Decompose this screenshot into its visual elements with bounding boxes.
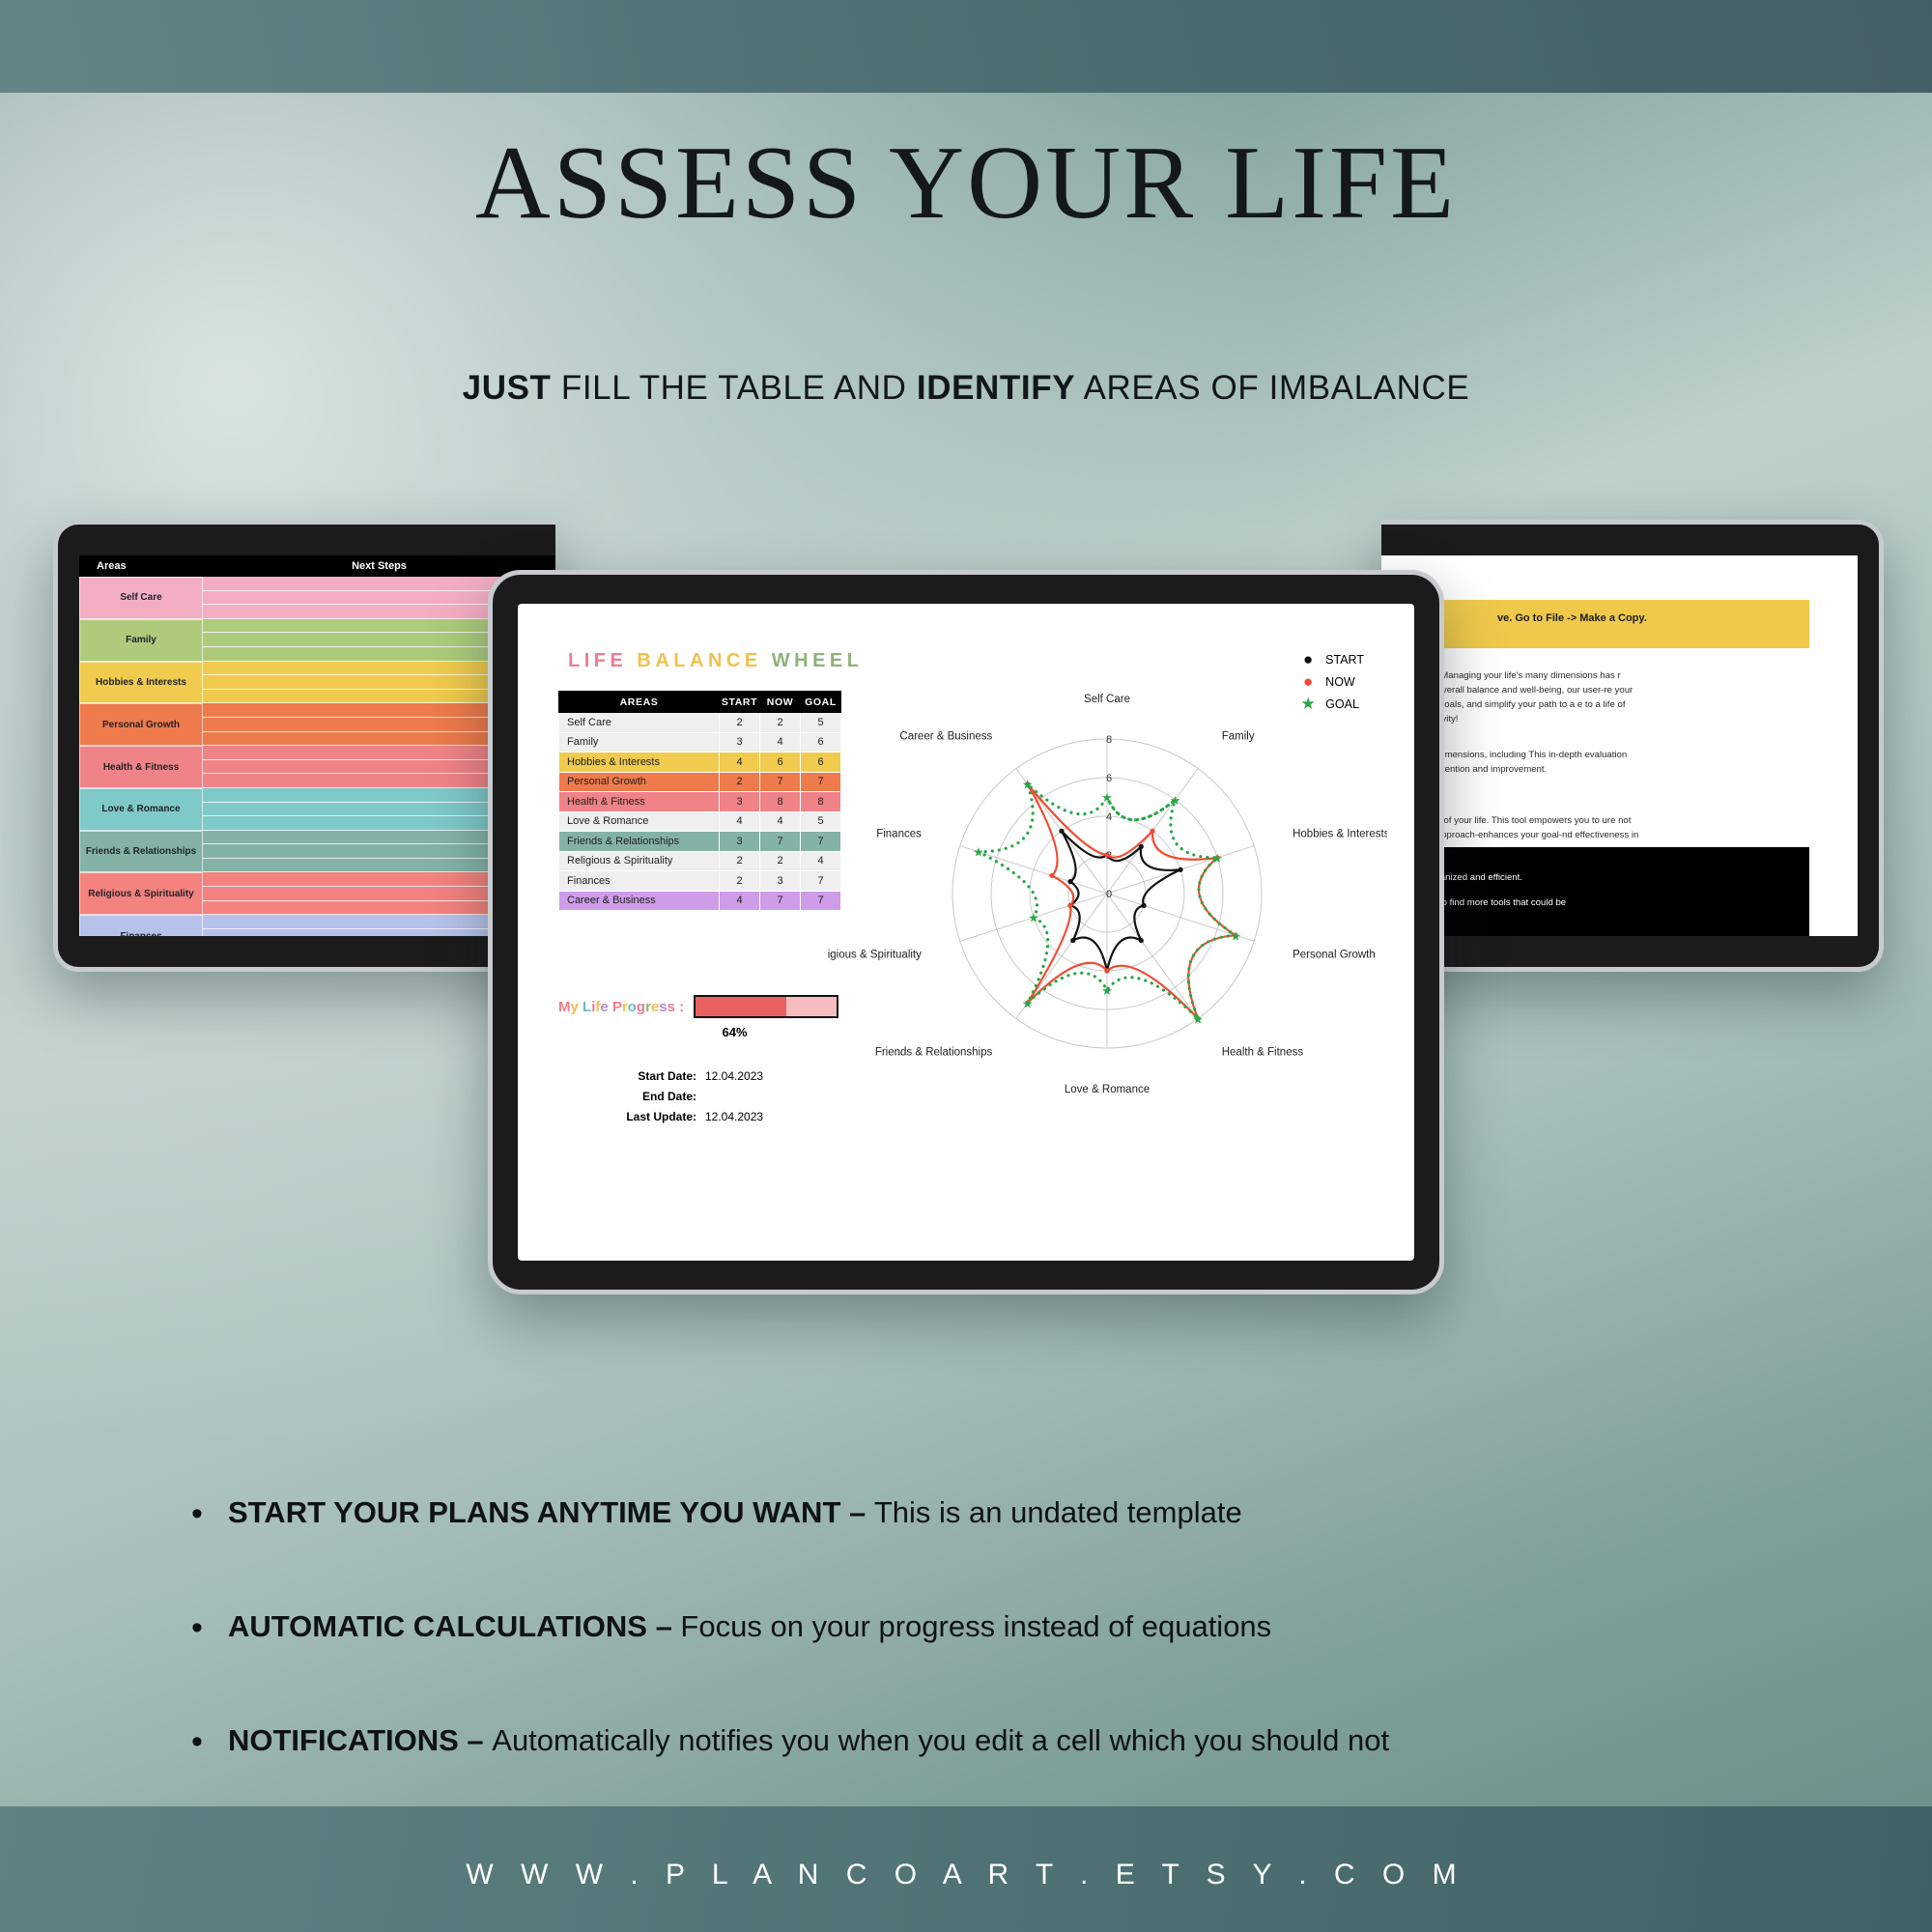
table-body: Self Care225Family346Hobbies & Interests…: [559, 713, 841, 911]
progress-bar: [694, 995, 838, 1018]
page-title: ASSESS YOUR LIFE: [0, 124, 1932, 243]
svg-text:★: ★: [1022, 778, 1034, 792]
subtitle-just: JUST: [463, 369, 552, 407]
left-col-areas: Areas: [79, 560, 203, 572]
left-table-group: Finances: [79, 915, 555, 936]
svg-text:Health & Fitness: Health & Fitness: [1222, 1046, 1304, 1058]
progress-label-char: g: [637, 999, 645, 1015]
date-value[interactable]: 12.04.2023: [705, 1110, 763, 1123]
table-cell-area[interactable]: Health & Fitness: [559, 792, 720, 812]
table-cell-area[interactable]: Friends & Relationships: [559, 832, 720, 852]
progress-label-char: e: [600, 999, 608, 1015]
date-row: End Date:: [558, 1086, 841, 1106]
svg-text:Self Care: Self Care: [1084, 694, 1130, 705]
left-table-body: Self CareFamilyHobbies & InterestsPerson…: [79, 577, 555, 936]
svg-text:Personal Growth: Personal Growth: [1293, 949, 1376, 960]
svg-text:Love & Romance: Love & Romance: [1065, 1084, 1150, 1095]
right-tablet-screen: ve. Go to File -> Make a Copy. ts of you…: [1381, 555, 1858, 936]
progress-label-char: y: [571, 999, 579, 1015]
progress-bar-fill: [696, 997, 785, 1016]
footer-url: W W W . P L A N C O A R T . E T S Y . C …: [0, 1859, 1932, 1891]
table-cell-start[interactable]: 2: [720, 713, 760, 733]
table-cell-start[interactable]: 4: [720, 753, 760, 773]
progress-percent: 64%: [558, 1025, 841, 1039]
left-area-label: Personal Growth: [79, 703, 203, 746]
table-cell-start[interactable]: 3: [720, 792, 760, 812]
left-table-group: Health & Fitness: [79, 746, 555, 788]
left-table-group: Family: [79, 619, 555, 662]
table-cell-start[interactable]: 3: [720, 832, 760, 852]
date-label: Last Update:: [558, 1110, 705, 1123]
progress-label-char: e: [651, 999, 659, 1015]
right-doc-banner: ve. Go to File -> Make a Copy.: [1381, 600, 1809, 648]
svg-text:Career & Business: Career & Business: [899, 731, 992, 743]
table-cell-start[interactable]: 4: [720, 891, 760, 911]
table-row[interactable]: Health & Fitness388: [559, 792, 841, 812]
bullet-title: START YOUR PLANS ANYTIME YOU WANT –: [228, 1495, 874, 1529]
table-col-header: START: [720, 692, 760, 713]
svg-text:4: 4: [1106, 811, 1112, 823]
left-table-group: Personal Growth: [79, 703, 555, 746]
table-row[interactable]: Hobbies & Interests466: [559, 753, 841, 773]
svg-text:Hobbies & Interests: Hobbies & Interests: [1293, 829, 1387, 840]
feature-bullet: NOTIFICATIONS – Automatically notifies y…: [228, 1723, 1677, 1758]
date-label: Start Date:: [558, 1069, 705, 1083]
left-table-group: Hobbies & Interests: [79, 662, 555, 704]
left-area-label: Health & Fitness: [79, 746, 203, 788]
table-cell-now[interactable]: 2: [760, 851, 801, 871]
left-table-group: Love & Romance: [79, 788, 555, 831]
table-cell-now[interactable]: 4: [760, 811, 801, 832]
svg-text:★: ★: [1192, 1011, 1204, 1026]
progress-row: My Life Progress :: [558, 995, 841, 1018]
feature-bullet-list: START YOUR PLANS ANYTIME YOU WANT – This…: [228, 1495, 1677, 1837]
right-doc-banner-text: ve. Go to File -> Make a Copy.: [1497, 612, 1647, 624]
table-cell-area[interactable]: Career & Business: [559, 891, 720, 911]
svg-text:★: ★: [1028, 911, 1039, 925]
left-table-group: Religious & Spirituality: [79, 872, 555, 915]
svg-text:★: ★: [1211, 851, 1223, 866]
left-area-label: Hobbies & Interests: [79, 662, 203, 704]
svg-text:Family: Family: [1222, 731, 1255, 743]
life-areas-table[interactable]: AREASSTARTNOWGOAL Self Care225Family346H…: [558, 691, 841, 911]
left-table-group: Self Care: [79, 577, 555, 619]
table-row[interactable]: Religious & Spirituality224: [559, 851, 841, 871]
table-cell-start[interactable]: 4: [720, 811, 760, 832]
svg-text:★: ★: [1022, 996, 1034, 1010]
svg-text:Religious & Spirituality: Religious & Spirituality: [827, 949, 922, 960]
subtitle-mid2: AREAS OF IMBALANCE: [1075, 369, 1469, 407]
left-area-label: Self Care: [79, 577, 203, 619]
svg-text:Friends & Relationships: Friends & Relationships: [875, 1046, 993, 1058]
main-tablet-screen: LIFE BALANCE WHEEL AREASSTARTNOWGOAL Sel…: [518, 604, 1414, 1261]
table-cell-area[interactable]: Love & Romance: [559, 811, 720, 832]
background-top-band: [0, 0, 1932, 93]
table-row[interactable]: Friends & Relationships377: [559, 832, 841, 852]
svg-text:6: 6: [1106, 773, 1112, 784]
table-cell-area[interactable]: Hobbies & Interests: [559, 753, 720, 773]
progress-label-char: :: [679, 999, 684, 1015]
progress-label-char: L: [582, 999, 591, 1015]
dates-block: Start Date:12.04.2023End Date:Last Updat…: [558, 1065, 841, 1126]
left-area-label: Family: [79, 619, 203, 662]
svg-text:Finances: Finances: [876, 829, 922, 840]
svg-text:★: ★: [973, 845, 984, 860]
table-cell-now[interactable]: 2: [760, 713, 801, 733]
date-label: End Date:: [558, 1090, 705, 1103]
subtitle-identify: IDENTIFY: [917, 369, 1075, 407]
table-col-header: AREAS: [559, 692, 720, 713]
left-area-label: Religious & Spirituality: [79, 872, 203, 915]
table-row[interactable]: Career & Business477: [559, 891, 841, 911]
tablet-right: ve. Go to File -> Make a Copy. ts of you…: [1381, 520, 1884, 972]
svg-text:★: ★: [1101, 983, 1113, 998]
table-cell-start[interactable]: 2: [720, 851, 760, 871]
table-cell-start[interactable]: 3: [720, 732, 760, 753]
bullet-description: Focus on your progress instead of equati…: [680, 1609, 1271, 1643]
sheet-title-life: LIFE: [568, 650, 627, 671]
bullet-title: NOTIFICATIONS –: [228, 1723, 492, 1757]
tablet-main: LIFE BALANCE WHEEL AREASSTARTNOWGOAL Sel…: [488, 570, 1444, 1294]
progress-label-char: P: [612, 999, 622, 1015]
svg-text:★: ★: [1230, 928, 1241, 943]
svg-text:8: 8: [1106, 734, 1112, 746]
progress-label-char: o: [628, 999, 637, 1015]
progress-label-char: s: [659, 999, 667, 1015]
table-cell-now[interactable]: 8: [760, 792, 801, 812]
feature-bullet: START YOUR PLANS ANYTIME YOU WANT – This…: [228, 1495, 1677, 1530]
date-value[interactable]: 12.04.2023: [705, 1069, 763, 1083]
table-cell-now[interactable]: 7: [760, 891, 801, 911]
table-cell-area[interactable]: Family: [559, 732, 720, 753]
table-cell-now[interactable]: 7: [760, 832, 801, 852]
table-cell-area[interactable]: Religious & Spirituality: [559, 851, 720, 871]
feature-bullet: AUTOMATIC CALCULATIONS – Focus on your p…: [228, 1609, 1677, 1644]
progress-label-char: M: [558, 999, 571, 1015]
table-cell-now[interactable]: 3: [760, 871, 801, 892]
bullet-title: AUTOMATIC CALCULATIONS –: [228, 1609, 680, 1643]
svg-text:★: ★: [1170, 793, 1181, 808]
bullet-description: Automatically notifies you when you edit…: [492, 1723, 1389, 1757]
page-subtitle: JUST FILL THE TABLE AND IDENTIFY AREAS O…: [0, 369, 1932, 408]
date-row: Last Update:12.04.2023: [558, 1106, 841, 1126]
progress-label: My Life Progress :: [558, 999, 684, 1015]
table-row[interactable]: Love & Romance445: [559, 811, 841, 832]
sheet-title-balance: BALANCE: [637, 650, 761, 671]
date-row: Start Date:12.04.2023: [558, 1065, 841, 1086]
left-tablet-screen: Areas Next Steps Self CareFamilyHobbies …: [79, 555, 555, 936]
svg-text:★: ★: [1101, 790, 1113, 805]
right-doc-footer: mplates. We're thrilled to help you stay…: [1381, 847, 1809, 936]
sheet-title: LIFE BALANCE WHEEL: [568, 650, 863, 672]
left-col-next-steps: Next Steps: [203, 560, 555, 572]
progress-label-char: s: [668, 999, 675, 1015]
table-cell-start[interactable]: 2: [720, 772, 760, 792]
radar-chart: 02468Self CareFamilyHobbies & InterestsP…: [827, 652, 1387, 1096]
table-row[interactable]: Personal Growth277: [559, 772, 841, 792]
table-cell-start[interactable]: 2: [720, 871, 760, 892]
life-balance-sheet: LIFE BALANCE WHEEL AREASSTARTNOWGOAL Sel…: [518, 604, 1414, 1261]
left-area-label: Finances: [79, 915, 203, 936]
table-cell-area[interactable]: Personal Growth: [559, 772, 720, 792]
table-cell-area[interactable]: Self Care: [559, 713, 720, 733]
table-cell-now[interactable]: 4: [760, 732, 801, 753]
table-row[interactable]: Finances237: [559, 871, 841, 892]
left-table-group: Friends & Relationships: [79, 831, 555, 873]
svg-text:0: 0: [1106, 889, 1112, 900]
table-col-header: NOW: [760, 692, 801, 713]
left-area-label: Friends & Relationships: [79, 831, 203, 873]
table-row[interactable]: Family346: [559, 732, 841, 753]
subtitle-mid1: FILL THE TABLE AND: [552, 369, 917, 407]
table-cell-now[interactable]: 7: [760, 772, 801, 792]
table-row[interactable]: Self Care225: [559, 713, 841, 733]
table-header-row: AREASSTARTNOWGOAL: [559, 692, 841, 713]
tablet-left: Areas Next Steps Self CareFamilyHobbies …: [53, 520, 555, 972]
table-cell-area[interactable]: Finances: [559, 871, 720, 892]
table-cell-now[interactable]: 6: [760, 753, 801, 773]
left-area-label: Love & Romance: [79, 788, 203, 831]
left-table-header: Areas Next Steps: [79, 555, 555, 577]
bullet-description: This is an undated template: [874, 1495, 1242, 1529]
